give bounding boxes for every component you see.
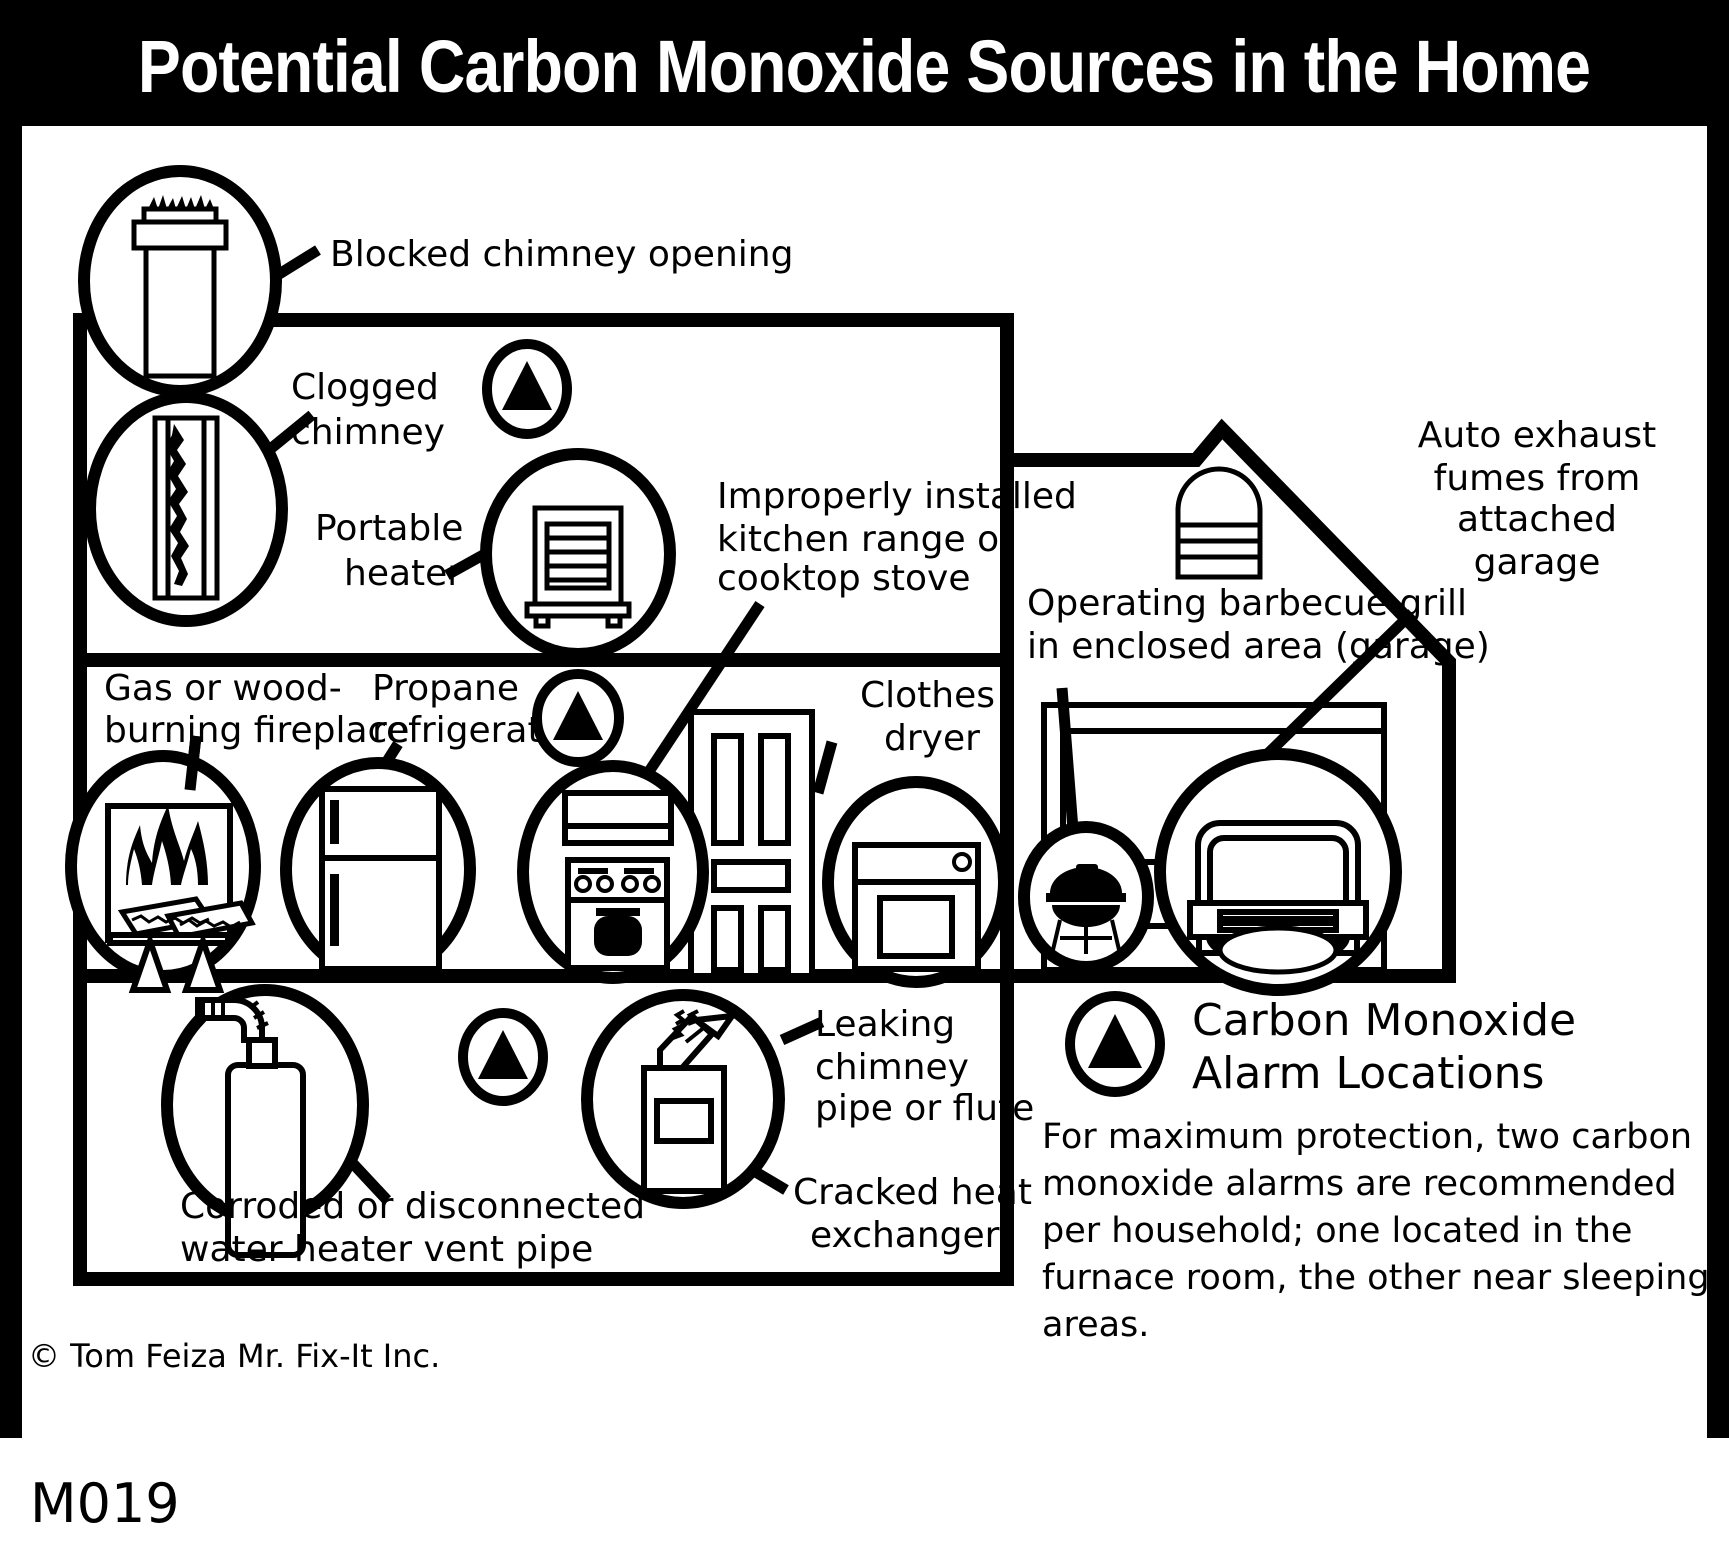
label-auto-exhaust-line2: fumes from — [1434, 458, 1641, 499]
callout-clogged-chimney — [90, 397, 282, 621]
label-leaking-pipe-line1: Leaking — [815, 1004, 955, 1045]
footer-strip — [0, 1438, 1729, 1551]
label-clogged-chimney-line1: Clogged — [291, 367, 439, 408]
label-kitchen-range-line3: cooktop stove — [717, 558, 970, 599]
oven-window-icon — [594, 916, 642, 956]
legend-body-line2: monoxide alarms are recommended — [1042, 1164, 1677, 1204]
callout-barbecue-grill — [1024, 827, 1148, 967]
callout-propane-refrigerator — [286, 763, 470, 975]
label-cracked-heat-exchanger-line2: exchanger — [810, 1215, 1000, 1256]
label-propane-refrigerator-line1: Propane — [372, 668, 519, 709]
callout-kitchen-range — [523, 766, 703, 978]
label-fireplace-line1: Gas or wood- — [104, 668, 342, 709]
label-clogged-chimney-line2: chimney — [291, 412, 445, 453]
label-kitchen-range-line2: kitchen range or — [717, 519, 1014, 560]
label-barbecue-line1: Operating barbecue grill — [1027, 583, 1467, 624]
callout-portable-heater — [486, 454, 670, 654]
page-title: Potential Carbon Monoxide Sources in the… — [138, 25, 1590, 108]
legend-body-line4: furnace room, the other near sleeping — [1042, 1258, 1710, 1298]
alarm-marker-basement — [463, 1013, 543, 1101]
legend-body-line1: For maximum protection, two carbon — [1042, 1117, 1692, 1157]
label-leaking-pipe-line3: pipe or flute — [815, 1088, 1034, 1129]
label-leaking-pipe-line2: chimney — [815, 1047, 969, 1088]
callout-clothes-dryer — [828, 782, 1004, 982]
diagram-page: Potential Carbon Monoxide Sources in the… — [0, 0, 1729, 1551]
label-portable-heater-line1: Portable — [315, 508, 463, 549]
legend-title-line1: Carbon Monoxide — [1192, 995, 1576, 1046]
label-clothes-dryer-line2: dryer — [884, 718, 980, 759]
furnace-icon — [644, 1068, 724, 1191]
label-auto-exhaust-line1: Auto exhaust — [1418, 415, 1656, 456]
label-water-heater-line1: Corroded or disconnected — [180, 1186, 645, 1227]
alarm-marker-legend — [1070, 996, 1160, 1092]
label-kitchen-range-line1: Improperly installed — [717, 476, 1077, 517]
gable-vent-icon — [1178, 469, 1260, 577]
figure-id-visible: M019 — [30, 1472, 180, 1535]
title-bar: Potential Carbon Monoxide Sources in the… — [0, 0, 1729, 122]
callout-auto-in-garage — [1160, 754, 1396, 990]
alarm-marker-main-floor — [537, 674, 619, 762]
label-auto-exhaust-line3: attached — [1457, 499, 1617, 540]
alarm-marker-upper-floor — [487, 344, 567, 434]
label-portable-heater-line2: heater — [344, 553, 462, 594]
label-barbecue-line2: in enclosed area (garage) — [1027, 626, 1490, 667]
label-blocked-chimney-opening: Blocked chimney opening — [330, 234, 793, 275]
interior-doors — [691, 712, 812, 976]
label-water-heater-line2: water heater vent pipe — [180, 1229, 593, 1270]
label-auto-exhaust-line4: garage — [1474, 542, 1601, 583]
callout-furnace-heat-exchanger — [587, 995, 779, 1203]
label-fireplace-line2: burning fireplace — [104, 710, 409, 751]
callout-blocked-chimney-opening — [84, 171, 276, 391]
legend-title-line2: Alarm Locations — [1192, 1048, 1544, 1099]
legend-body-line5: areas. — [1042, 1305, 1149, 1345]
label-clothes-dryer-line1: Clothes — [860, 675, 995, 716]
label-cracked-heat-exchanger-line1: Cracked heat — [793, 1172, 1032, 1213]
copyright-notice: © Tom Feiza Mr. Fix-It Inc. — [28, 1337, 440, 1375]
carbon-monoxide-home-diagram: Potential Carbon Monoxide Sources in the… — [0, 0, 1729, 1551]
legend-body-line3: per household; one located in the — [1042, 1211, 1632, 1251]
